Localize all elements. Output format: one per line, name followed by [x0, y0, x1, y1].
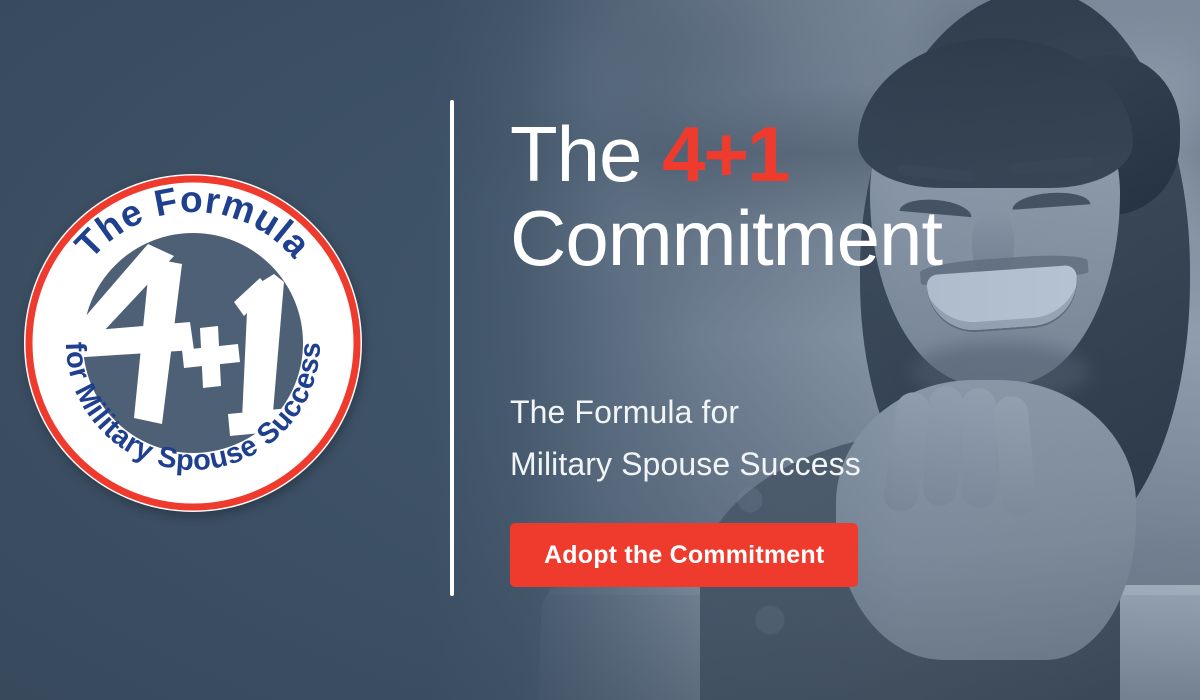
headline-line-1-prefix: The: [510, 110, 662, 198]
copy-block: The 4+1 Commitment The Formula for Milit…: [510, 112, 1150, 280]
vertical-divider: [450, 100, 454, 596]
page-title: The 4+1 Commitment: [510, 112, 1150, 280]
subheading: The Formula for Military Spouse Success: [510, 387, 861, 491]
headline-accent: 4+1: [662, 110, 788, 198]
headline-line-2: Commitment: [510, 194, 942, 282]
formula-seal-logo: The Formula for Military Spouse Success: [22, 172, 364, 514]
subheading-line-2: Military Spouse Success: [510, 446, 861, 482]
adopt-the-commitment-button[interactable]: Adopt the Commitment: [510, 523, 858, 587]
subheading-line-1: The Formula for: [510, 394, 739, 430]
promo-banner: The Formula for Military Spouse Success …: [0, 0, 1200, 700]
